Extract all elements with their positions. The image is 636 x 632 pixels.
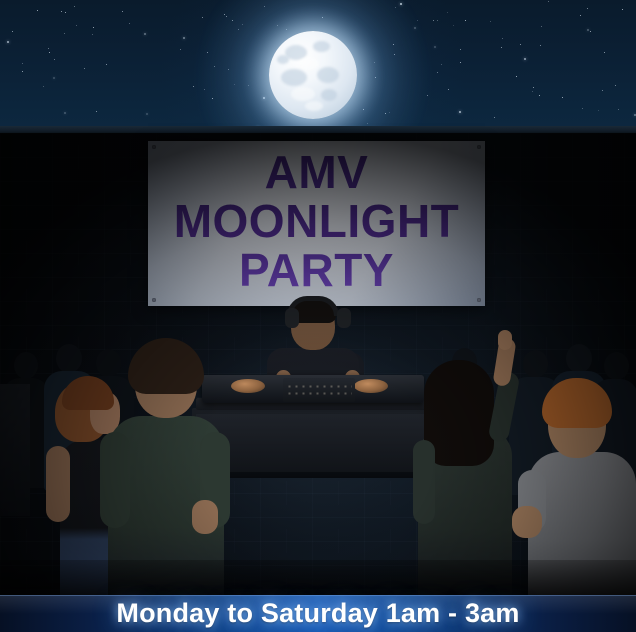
star <box>129 23 130 24</box>
star <box>61 11 62 12</box>
star <box>460 62 461 63</box>
star <box>502 38 503 39</box>
star <box>602 90 603 91</box>
star <box>74 6 75 7</box>
star <box>618 109 619 110</box>
star <box>541 26 542 27</box>
star <box>459 111 461 113</box>
star <box>49 52 50 53</box>
star <box>437 20 438 21</box>
star <box>447 12 448 13</box>
star <box>494 117 495 118</box>
star <box>146 113 148 115</box>
schedule-bar: Monday to Saturday 1am - 3am <box>0 595 636 632</box>
star <box>48 48 49 49</box>
star <box>22 71 23 72</box>
star <box>84 68 85 69</box>
star <box>12 31 13 32</box>
star <box>539 95 540 96</box>
star <box>122 11 123 12</box>
event-poster: AMV MOONLIGHT PARTY <box>0 0 636 632</box>
full-moon <box>269 31 357 119</box>
star <box>548 1 549 2</box>
star <box>533 87 534 88</box>
star <box>183 37 185 39</box>
star <box>441 64 442 65</box>
star <box>460 49 461 50</box>
star <box>604 52 605 53</box>
star <box>453 25 454 26</box>
star <box>7 41 9 43</box>
star <box>532 91 533 92</box>
star <box>490 21 491 22</box>
star <box>590 31 591 32</box>
star <box>64 112 66 114</box>
star <box>516 76 517 77</box>
star <box>448 89 449 90</box>
star <box>615 85 616 86</box>
star <box>465 20 466 21</box>
star <box>76 25 77 26</box>
star <box>634 114 636 116</box>
star <box>43 86 44 87</box>
star <box>622 9 623 10</box>
star <box>582 108 583 109</box>
star <box>598 110 599 111</box>
star <box>53 77 55 79</box>
star <box>92 34 93 35</box>
star <box>22 63 23 64</box>
star <box>180 49 181 50</box>
scene-vignette <box>0 133 636 600</box>
star <box>37 10 38 11</box>
star <box>524 58 526 60</box>
star <box>65 12 66 13</box>
star <box>580 15 581 16</box>
star <box>93 27 94 28</box>
star <box>587 8 588 9</box>
star <box>54 59 55 60</box>
star <box>562 97 563 98</box>
star <box>64 33 65 34</box>
star <box>520 44 521 45</box>
star <box>587 29 589 31</box>
star <box>96 111 97 112</box>
star <box>540 45 541 46</box>
schedule-text: Monday to Saturday 1am - 3am <box>116 598 519 629</box>
star <box>501 47 502 48</box>
star <box>144 33 146 35</box>
star <box>433 20 434 21</box>
star <box>106 64 107 65</box>
